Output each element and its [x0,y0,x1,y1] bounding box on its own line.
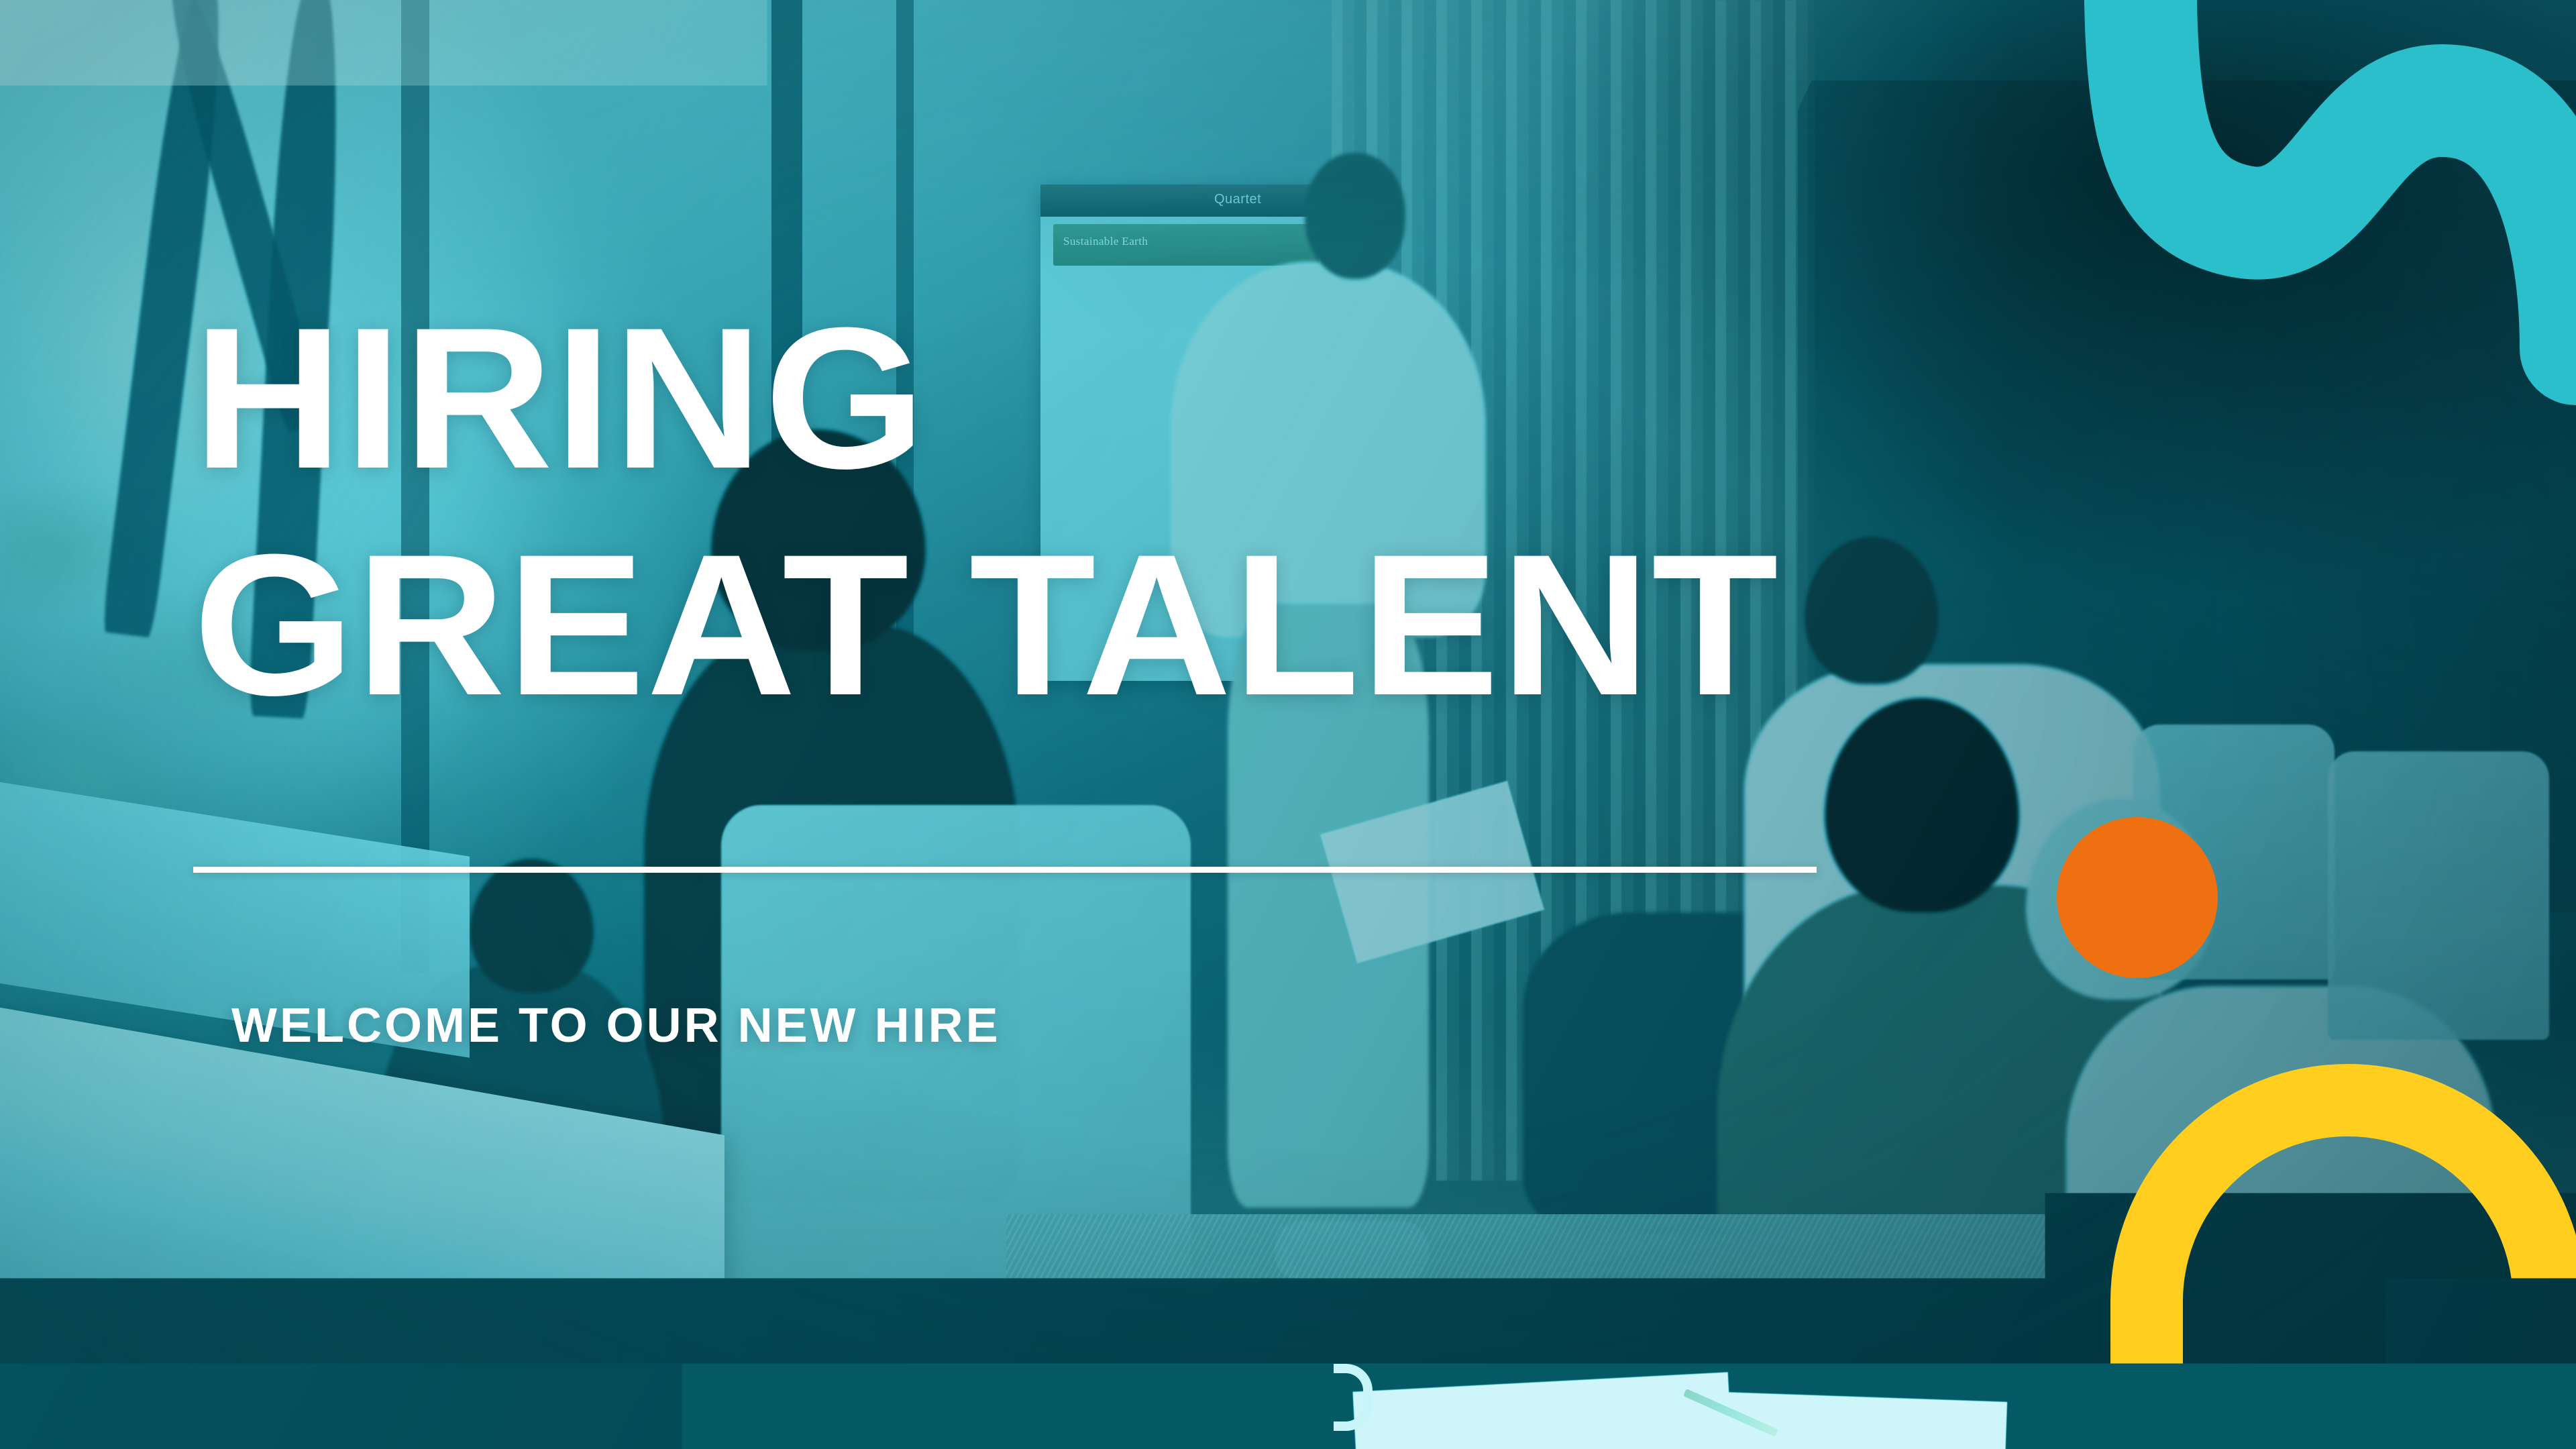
hiring-poster: Quartet Sustainable Earth [0,0,2576,1449]
white-divider-rule [193,867,1817,873]
text-content: HIRING GREAT TALENT WELCOME TO OUR NEW H… [0,0,2576,1449]
headline-line-2: GREAT TALENT [193,542,1780,707]
subtitle-text: WELCOME TO OUR NEW HIRE [231,998,1001,1053]
headline-line-1: HIRING [193,315,927,480]
